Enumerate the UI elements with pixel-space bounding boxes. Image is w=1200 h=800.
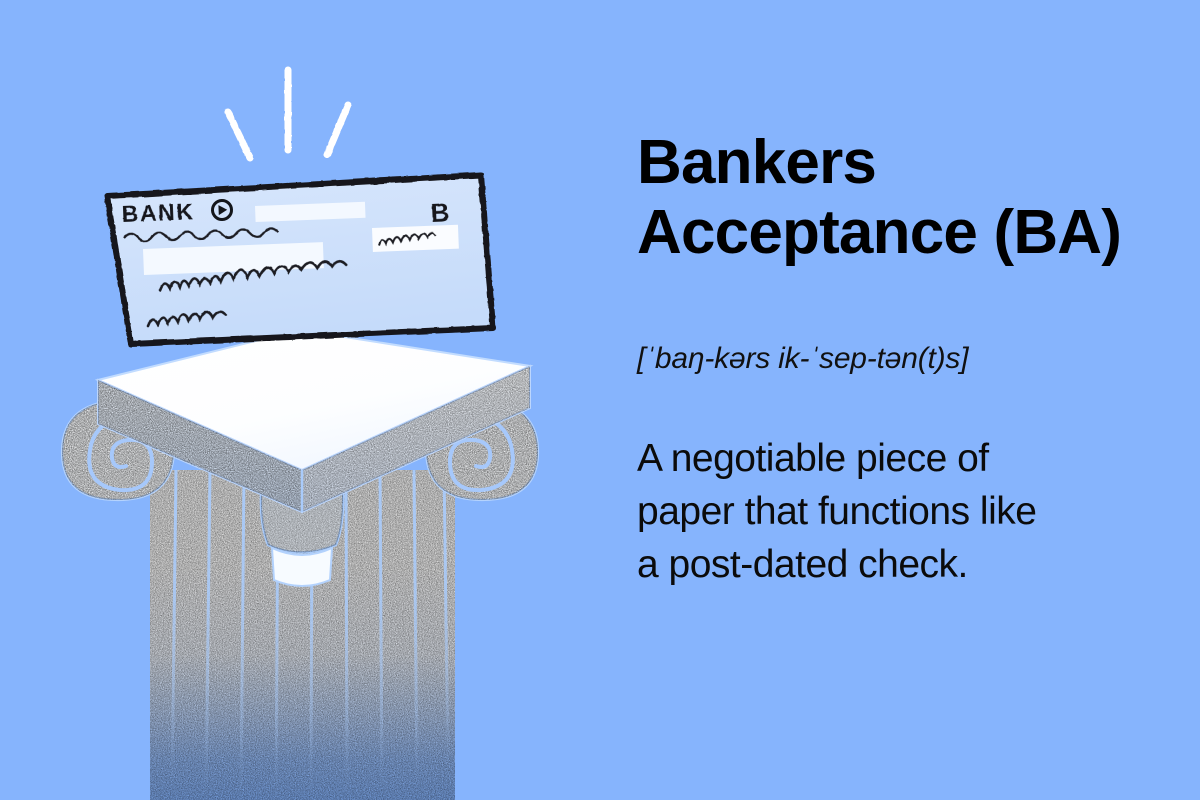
pronunciation-text: [ˈbaŋ-kərs ik-ˈsep-tən(t)s] (637, 342, 968, 376)
definition-line-3: a post-dated check. (637, 538, 1137, 591)
page-title-line-1: Bankers (637, 128, 1182, 198)
check-corner-mark: B (430, 197, 450, 228)
illustration-bankers-acceptance: BANK B (0, 0, 600, 800)
definition-line-2: paper that functions like (637, 485, 1137, 538)
bank-check: BANK B (107, 175, 493, 344)
check-bank-label: BANK (121, 198, 195, 227)
illustration-svg: BANK B (0, 0, 600, 800)
definition-card-canvas: BANK B (0, 0, 1200, 800)
shine-line-left (228, 112, 250, 158)
check-amount-box (372, 225, 459, 252)
page-title-line-2: Acceptance (BA) (637, 198, 1182, 268)
definition-text: A negotiable piece of paper that functio… (637, 432, 1137, 591)
page-title: Bankers Acceptance (BA) (637, 128, 1182, 268)
definition-text-panel: Bankers Acceptance (BA) [ˈbaŋ-kərs ik-ˈs… (637, 0, 1182, 800)
definition-line-1: A negotiable piece of (637, 432, 1137, 485)
shine-line-right (327, 105, 348, 155)
shine-lines-group (228, 70, 348, 158)
